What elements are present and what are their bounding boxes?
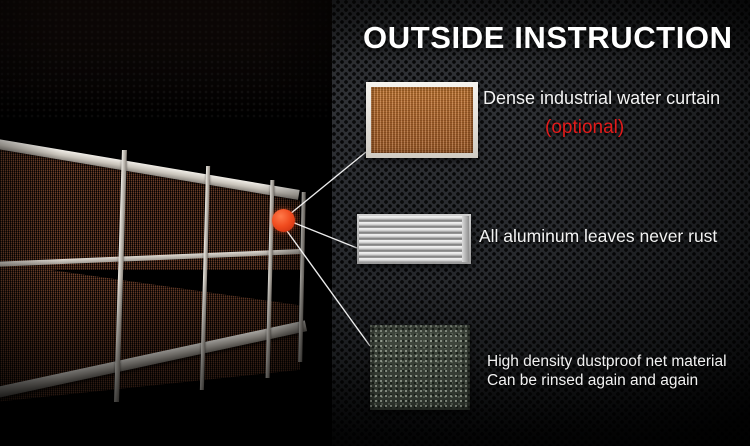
caption-water-curtain-optional: (optional) bbox=[545, 117, 624, 139]
thumbnail-aluminum-louver[interactable] bbox=[357, 214, 471, 264]
page-title: OUTSIDE INSTRUCTION bbox=[363, 20, 733, 56]
caption-aluminum-louver: All aluminum leaves never rust bbox=[479, 226, 717, 247]
callout-marker[interactable] bbox=[272, 209, 295, 232]
photo-top-texture bbox=[0, 0, 332, 120]
water-curtain-pad-surface bbox=[371, 87, 473, 153]
caption-water-curtain: Dense industrial water curtain bbox=[483, 88, 720, 109]
caption-dustproof-net-line-2: Can be rinsed again and again bbox=[487, 371, 727, 390]
caption-dustproof-net-line-1: High density dustproof net material bbox=[487, 352, 727, 371]
aluminum-louver-blades bbox=[359, 216, 469, 262]
thumbnail-water-curtain[interactable] bbox=[366, 82, 478, 158]
louver-side-stile bbox=[462, 216, 469, 262]
caption-dustproof-net: High density dustproof net material Can … bbox=[487, 352, 727, 390]
thumbnail-dustproof-net[interactable] bbox=[370, 325, 470, 410]
infographic-slide: OUTSIDE INSTRUCTION Dense industrial wat… bbox=[0, 0, 750, 446]
